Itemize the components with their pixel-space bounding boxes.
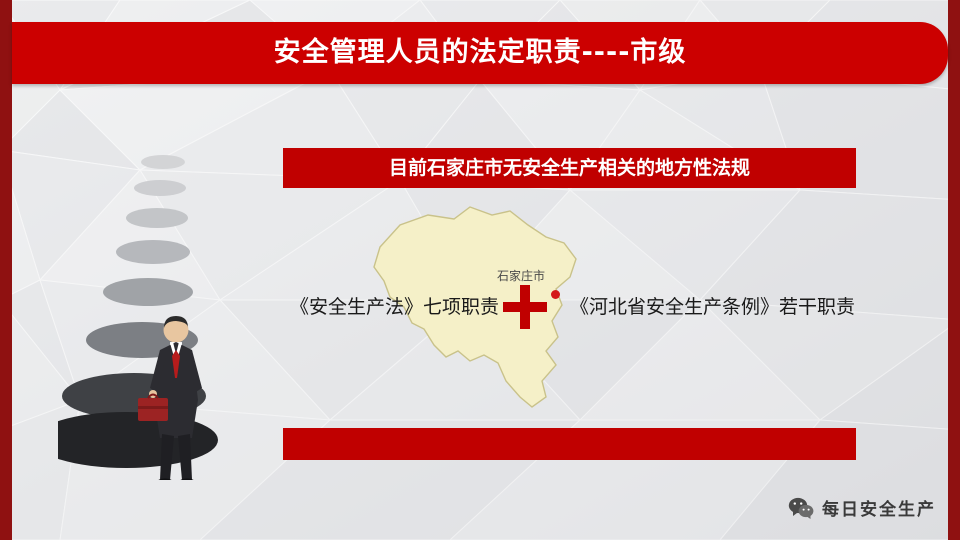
left-accent-bar (0, 0, 12, 540)
law-text-right: 《河北省安全生产条例》若干职责 (570, 292, 855, 319)
right-accent-bar (948, 0, 960, 540)
businessman-graphic (58, 140, 298, 480)
plus-icon-horizontal (503, 302, 547, 312)
watermark-text: 每日安全生产 (822, 495, 936, 520)
wechat-icon (788, 497, 814, 519)
page-title: 安全管理人员的法定职责----市级 (12, 22, 948, 84)
plus-icon (503, 285, 547, 329)
map-marker-icon (551, 290, 560, 299)
subtitle-banner: 目前石家庄市无安全生产相关的地方性法规 (283, 148, 856, 188)
slide-canvas: 安全管理人员的法定职责----市级 目前石家庄市无安全生产相关的地方性法规 石家… (0, 0, 960, 540)
bottom-banner (283, 428, 856, 460)
title-banner: 安全管理人员的法定职责----市级 (12, 22, 948, 84)
law-text-left: 《安全生产法》七项职责 (290, 292, 499, 319)
map-city-label: 石家庄市 (497, 267, 545, 284)
businessman-illustration (58, 140, 298, 480)
watermark: 每日安全生产 (788, 495, 936, 520)
subtitle-text: 目前石家庄市无安全生产相关的地方性法规 (283, 148, 856, 188)
